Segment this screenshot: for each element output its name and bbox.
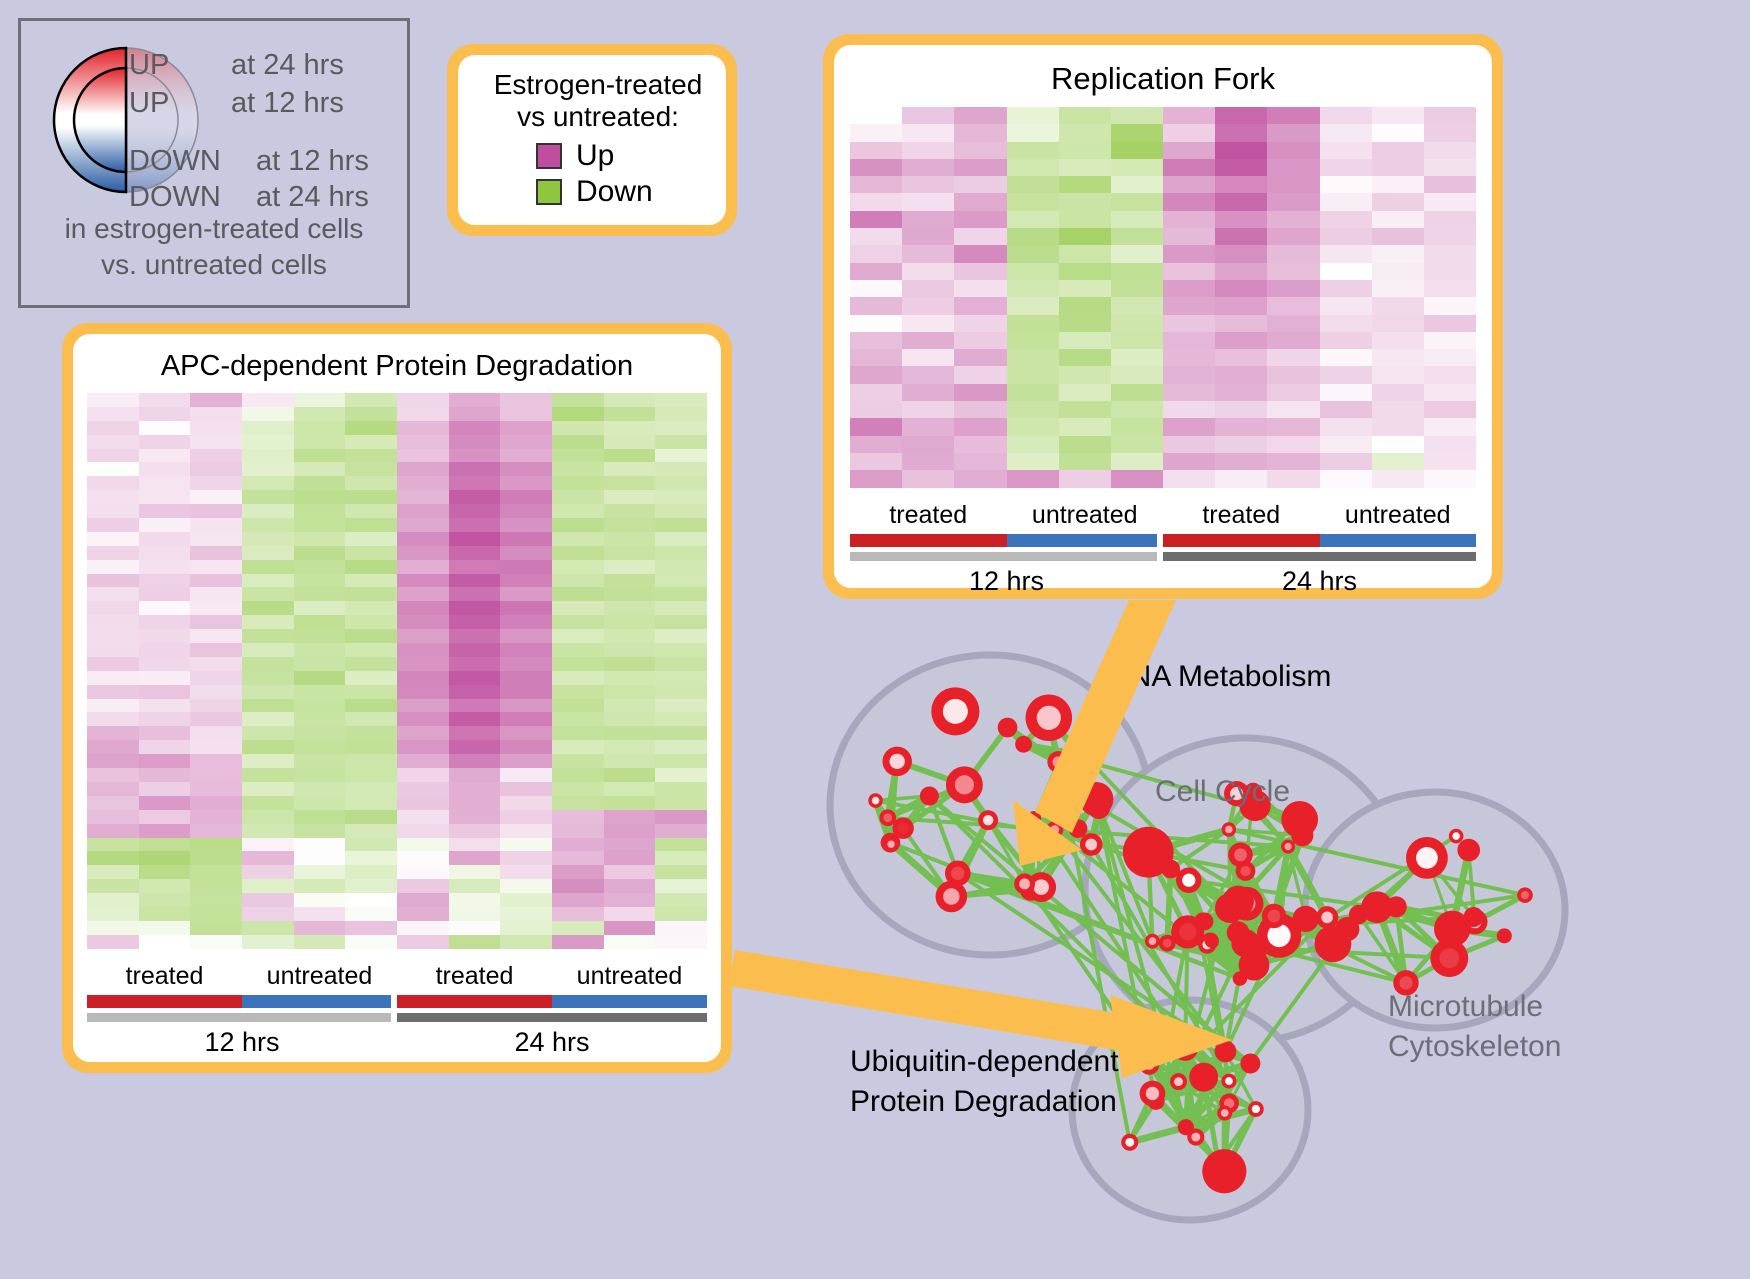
heatmap-cell [655,838,707,852]
heatmap-cell [604,546,656,560]
sample-group-label: untreated [242,962,397,991]
time-group-label: 12 hrs [850,566,1163,597]
heatmap-cell [449,476,501,490]
heatmap-cell [449,879,501,893]
heatmap-cell [500,768,552,782]
heatmap-cell [1320,315,1372,332]
network-node[interactable] [1240,1053,1260,1073]
heatmap-cell [87,560,139,574]
color-key-box: UP at 24 hrs UP at 12 hrs DOWN at 12 hrs… [18,18,410,308]
heatmap-cell [552,518,604,532]
heatmap-cell [655,490,707,504]
heatmap-cell [500,754,552,768]
network-node[interactable] [1121,1134,1138,1151]
heatmap-cell [500,546,552,560]
heatmap-cell [397,865,449,879]
heatmap-cell [1267,418,1319,435]
network-node-core [1191,1133,1200,1142]
heatmap-cell [397,421,449,435]
heatmap-cell [1215,245,1267,262]
heatmap-cell [552,476,604,490]
heatmap-cell [1267,124,1319,141]
heatmap-cell [449,532,501,546]
heatmap-cell [1059,332,1111,349]
heatmap-cell [345,435,397,449]
heatmap-cell [1059,453,1111,470]
network-node[interactable] [1314,925,1351,962]
heatmap-cell [552,587,604,601]
network-node-core [1416,847,1438,869]
network-node[interactable] [1221,1074,1236,1089]
heatmap-cell [345,879,397,893]
heatmap-cell [655,893,707,907]
network-node[interactable] [931,687,979,735]
network-node[interactable] [1211,1155,1226,1170]
key-row-time-2: at 12 hrs [256,145,369,178]
heatmap-cell [139,393,191,407]
heatmap-cell [1059,349,1111,366]
heatmap-cell [242,643,294,657]
heatmap-cell [87,393,139,407]
time-group-label: 24 hrs [1163,566,1476,597]
network-node[interactable] [920,786,939,805]
heatmap-cell [449,407,501,421]
heatmap-cell [242,601,294,615]
heatmap-cell [1163,436,1215,453]
heatmap-cell [1059,193,1111,210]
heatmap-cell [449,435,501,449]
heatmap-cell [294,851,346,865]
heatmap-cell [87,504,139,518]
heatmap-replication-fork [850,107,1476,488]
heatmap-cell [500,574,552,588]
heatmap-cell [1267,159,1319,176]
heatmap-cell [1267,436,1319,453]
network-node[interactable] [1228,843,1253,868]
heatmap-cell [345,865,397,879]
heatmap-cell [655,462,707,476]
cluster-label-protein-degradation: Protein Degradation [850,1085,1117,1119]
heatmap-cell [139,685,191,699]
sample-group-labels-apc: treateduntreatedtreateduntreated [87,962,707,991]
heatmap-cell [139,518,191,532]
heatmap-cell [500,615,552,629]
heatmap-cell [1007,193,1059,210]
network-node[interactable] [1293,906,1319,932]
heatmap-cell [1111,176,1163,193]
network-node[interactable] [1349,905,1368,924]
heatmap-cell [242,504,294,518]
network-node[interactable] [1222,822,1236,836]
network-node[interactable] [1145,934,1160,949]
heatmap-cell [902,453,954,470]
heatmap-cell [500,740,552,754]
heatmap-cell [1215,332,1267,349]
network-node[interactable] [1497,928,1512,943]
heatmap-cell [87,421,139,435]
heatmap-cell [242,449,294,463]
heatmap-cell [1320,401,1372,418]
heatmap-cell [294,532,346,546]
heatmap-cell [552,685,604,699]
heatmap-cell [500,879,552,893]
heatmap-cell [190,810,242,824]
heatmap-cell [655,574,707,588]
heatmap-cell [850,245,902,262]
heatmap-cell [449,462,501,476]
heatmap-cell [552,712,604,726]
heatmap-cell [655,907,707,921]
network-node[interactable] [1464,907,1484,927]
heatmap-cell [190,532,242,546]
heatmap-cell [552,601,604,615]
heatmap-cell [655,476,707,490]
network-node[interactable] [1215,893,1245,923]
heatmap-cell [242,490,294,504]
heatmap-cell [1111,418,1163,435]
sample-group-label: treated [1163,501,1320,530]
time-color-bar-rf [850,552,1476,561]
heatmap-cell [449,782,501,796]
heatmap-cell [190,587,242,601]
heatmap-cell [1267,193,1319,210]
heatmap-cell [449,449,501,463]
heatmap-cell [242,699,294,713]
heatmap-cell [345,643,397,657]
heatmap-cell [139,782,191,796]
heatmap-cell [397,921,449,935]
heatmap-cell [242,518,294,532]
heatmap-cell [1372,142,1424,159]
condition-segment [1320,534,1477,547]
heatmap-cell [449,574,501,588]
network-node[interactable] [868,793,883,808]
heatmap-cell [1424,124,1476,141]
network-node[interactable] [1189,1063,1218,1092]
network-node[interactable] [1386,896,1407,917]
network-node[interactable] [1202,1149,1246,1193]
heatmap-cell [139,768,191,782]
heatmap-cell [850,349,902,366]
network-node[interactable] [1139,1055,1159,1075]
network-node[interactable] [1233,971,1247,985]
network-node[interactable] [1217,1106,1232,1121]
network-node-core [1521,891,1529,899]
network-node[interactable] [1215,1041,1237,1063]
heatmap-cell [655,671,707,685]
heatmap-cell [655,393,707,407]
sample-group-label: treated [850,501,1007,530]
heatmap-cell [1163,211,1215,228]
heatmap-cell [500,796,552,810]
heatmap-cell [294,490,346,504]
heatmap-cell [87,907,139,921]
time-group-label: 12 hrs [87,1027,397,1058]
heatmap-cell [1111,159,1163,176]
heatmap-cell [1267,470,1319,487]
heatmap-cell [1007,176,1059,193]
heatmap-cell [397,476,449,490]
heatmap-cell [604,782,656,796]
network-node[interactable] [1015,736,1032,753]
heatmap-cell [294,421,346,435]
heatmap-cell [190,824,242,838]
network-node[interactable] [1079,782,1113,816]
heatmap-cell [1007,228,1059,245]
network-node[interactable] [1517,887,1533,903]
heatmap-cell [902,349,954,366]
heatmap-cell [1372,124,1424,141]
network-node-core [1240,866,1250,876]
heatmap-cell [242,935,294,949]
heatmap-cell [1007,384,1059,401]
heatmap-cell [1372,315,1424,332]
network-node[interactable] [1252,938,1270,956]
heatmap-cell [655,796,707,810]
heatmap-cell [397,518,449,532]
heatmap-cell [850,142,902,159]
legend-item-down: Down [536,175,716,209]
network-node[interactable] [1281,839,1295,853]
network-node[interactable] [1449,829,1464,844]
heatmap-cell [345,685,397,699]
heatmap-cell [242,393,294,407]
heatmap-cell [1215,453,1267,470]
heatmap-cell [1424,228,1476,245]
network-node[interactable] [1178,1119,1194,1135]
heatmap-cell [1059,418,1111,435]
network-node-core [1399,976,1412,989]
heatmap-cell [1007,418,1059,435]
heatmap-cell [954,142,1006,159]
network-node[interactable] [1014,873,1035,894]
network-node[interactable] [1170,1073,1187,1090]
heatmap-cell [604,726,656,740]
heatmap-cell [1111,470,1163,487]
condition-segment [397,995,552,1008]
heatmap-cell [1163,263,1215,280]
heatmap-cell [397,393,449,407]
network-node[interactable] [879,809,896,826]
heatmap-cell [1320,453,1372,470]
heatmap-cell [1007,263,1059,280]
network-node[interactable] [1046,821,1063,838]
heatmap-cell [190,657,242,671]
heatmap-cell [87,712,139,726]
heatmap-cell [1424,315,1476,332]
heatmap-cell [397,712,449,726]
heatmap-cell [1372,193,1424,210]
heatmap-cell [1007,211,1059,228]
network-node-core [1050,825,1059,834]
heatmap-cell [87,935,139,949]
heatmap-cell [1320,263,1372,280]
heatmap-cell [345,712,397,726]
network-node[interactable] [1406,837,1448,879]
heatmap-cell [1320,436,1372,453]
heatmap-cell [449,518,501,532]
network-node[interactable] [1047,751,1069,773]
network-node[interactable] [1176,868,1201,893]
heatmap-cell [604,476,656,490]
heatmap-cell [190,560,242,574]
heatmap-cell [294,838,346,852]
heatmap-cell [500,518,552,532]
key-row-time-1: at 12 hrs [231,87,344,120]
network-node[interactable] [882,747,912,777]
heatmap-cell [850,366,902,383]
heatmap-cell [242,476,294,490]
heatmap-cell [139,907,191,921]
heatmap-cell [1215,349,1267,366]
heatmap-cell [397,671,449,685]
network-svg [790,620,1750,1279]
cluster-label-dna-metabolism: DNA Metabolism [1108,660,1331,694]
heatmap-cell [139,421,191,435]
heatmap-cell [500,824,552,838]
condition-color-bar-rf [850,534,1476,547]
heatmap-cell [902,401,954,418]
heatmap-cell [1007,124,1059,141]
condition-color-bar-apc [87,995,707,1008]
heatmap-cell [1372,401,1424,418]
heatmap-cell [242,587,294,601]
heatmap-cell [87,893,139,907]
heatmap-cell [604,893,656,907]
network-node[interactable] [1069,819,1088,838]
heatmap-cell [655,740,707,754]
heatmap-cell [1424,384,1476,401]
heatmap-cell [500,712,552,726]
heatmap-cell [294,712,346,726]
condition-segment [242,995,391,1008]
heatmap-cell [1424,263,1476,280]
legend-title-line1: Estrogen-treated [480,69,716,101]
network-node[interactable] [1140,1081,1166,1107]
legend-item-up: Up [536,139,716,173]
heatmap-cell [190,435,242,449]
network-node[interactable] [998,718,1018,738]
heatmap-cell [1267,332,1319,349]
heatmap-cell [552,865,604,879]
heatmap-cell [552,879,604,893]
heatmap-cell [1320,193,1372,210]
heatmap-cell [242,824,294,838]
network-node[interactable] [978,810,998,830]
key-row-time-0: at 24 hrs [231,49,344,82]
heatmap-cell [500,504,552,518]
heatmap-cell [604,935,656,949]
heatmap-cell [1372,211,1424,228]
network-node[interactable] [946,766,983,803]
heatmap-cell [1007,107,1059,124]
heatmap-cell [1372,384,1424,401]
heatmap-cell [655,921,707,935]
heatmap-cell [87,838,139,852]
heatmap-cell [1320,245,1372,262]
network-node[interactable] [1316,906,1338,928]
heatmap-cell [1163,228,1215,245]
heatmap-cell [1215,124,1267,141]
network-node-core [1146,1087,1159,1100]
heatmap-cell [139,490,191,504]
heatmap-cell [1267,366,1319,383]
heatmap-cell [1372,436,1424,453]
network-node[interactable] [1069,745,1087,763]
network-node[interactable] [1262,904,1286,928]
heatmap-cell [655,518,707,532]
heatmap-cell [552,796,604,810]
heatmap-cell [345,504,397,518]
network-node[interactable] [1205,934,1219,948]
heatmap-cell [294,629,346,643]
time-segment [397,1013,707,1022]
network-node-core [1085,839,1097,851]
heatmap-cell [242,851,294,865]
heatmap-cell [1007,297,1059,314]
heatmap-cell [902,384,954,401]
heatmap-cell [655,407,707,421]
heatmap-cell [397,935,449,949]
heatmap-cell [1320,366,1372,383]
heatmap-cell [1424,418,1476,435]
heatmap-cell [190,838,242,852]
heatmap-cell [1372,107,1424,124]
heatmap-cell [345,671,397,685]
heatmap-cell [294,407,346,421]
heatmap-cell [1267,211,1319,228]
network-node[interactable] [1027,811,1041,825]
heatmap-cell [449,824,501,838]
heatmap-cell [604,587,656,601]
heatmap-cell [87,615,139,629]
heatmap-cell [1007,159,1059,176]
heatmap-cell [345,796,397,810]
heatmap-cell [954,418,1006,435]
legend-swatch-down-icon [536,179,562,205]
heatmap-cell [294,796,346,810]
heatmap-cell [1372,159,1424,176]
heatmap-cell [345,726,397,740]
network-node[interactable] [1080,833,1103,856]
heatmap-cell [902,263,954,280]
network-node[interactable] [1026,695,1073,742]
heatmap-cell [87,629,139,643]
network-node[interactable] [884,837,898,851]
network-node[interactable] [1123,827,1174,878]
heatmap-cell [294,615,346,629]
heatmap-cell [397,685,449,699]
heatmap-cell [190,629,242,643]
heatmap-cell [500,643,552,657]
heatmap-cell [345,740,397,754]
heatmap-cell [1320,418,1372,435]
heatmap-cell [1215,418,1267,435]
network-node[interactable] [1457,839,1480,862]
heatmap-cell [500,587,552,601]
network-node[interactable] [1172,1035,1198,1061]
heatmap-cell [954,436,1006,453]
network-node[interactable] [936,881,968,913]
heatmap-cell [1267,297,1319,314]
network-node[interactable] [1248,1101,1264,1117]
heatmap-cell [139,407,191,421]
network-node-core [1144,1059,1154,1069]
heatmap-cell [87,490,139,504]
heatmap-cell [294,879,346,893]
sample-group-label: treated [87,962,242,991]
network-node[interactable] [1195,912,1210,927]
